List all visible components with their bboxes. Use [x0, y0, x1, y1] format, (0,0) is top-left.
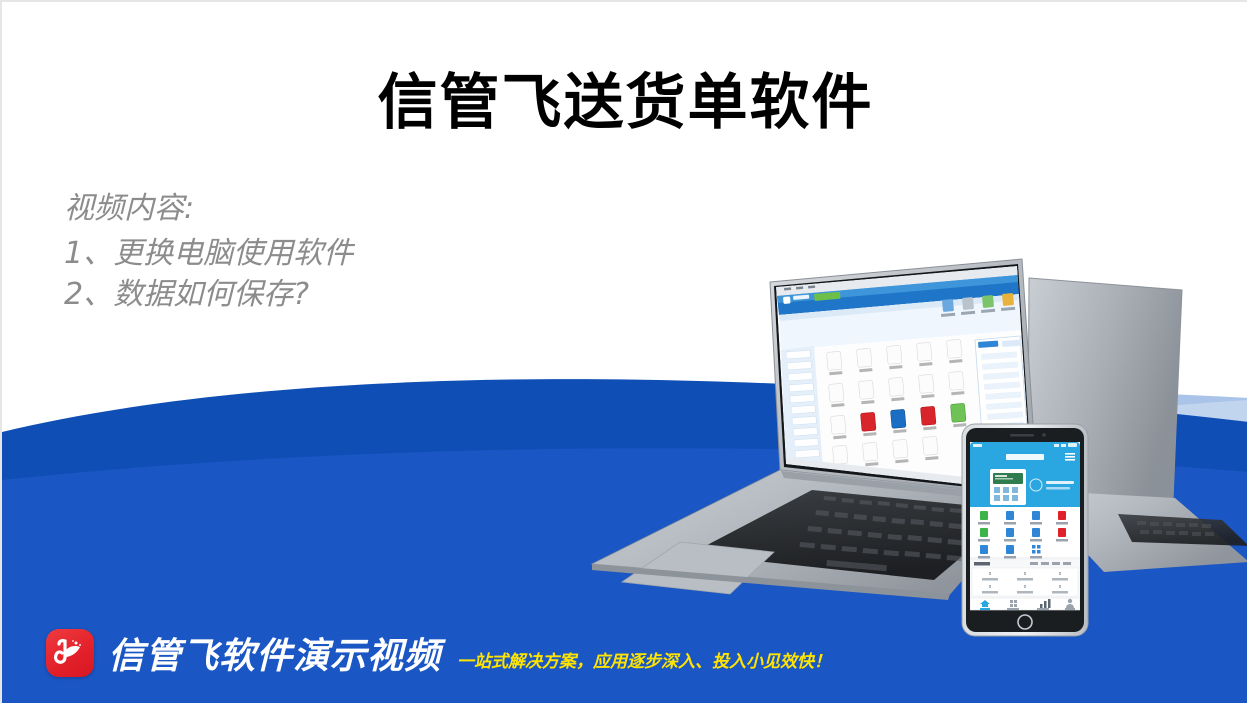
- video-content-list: 视频内容: 1、更换电脑使用软件 2、数据如何保存?: [64, 188, 534, 315]
- brand-name: 信管飞软件演示视频: [108, 627, 441, 679]
- xinguanfei-bird-logo-icon: [54, 638, 86, 668]
- hamburger-menu-icon: [1065, 453, 1075, 461]
- page-title: 信管飞送货单软件: [2, 54, 1247, 141]
- list-item: 2、数据如何保存?: [64, 274, 534, 315]
- content-heading: 视频内容:: [64, 188, 534, 229]
- devices-illustration: 0 0 0 0 0 0: [562, 242, 1247, 642]
- brand-logo-icon: [46, 629, 94, 677]
- app-logo-icon: [783, 296, 791, 304]
- phone-earpiece: [1010, 434, 1034, 437]
- laptop-back-keyboard: [1118, 514, 1247, 546]
- phone-stats-title: [974, 562, 990, 566]
- presentation-slide: 信管飞送货单软件 视频内容: 1、更换电脑使用软件 2、数据如何保存?: [0, 0, 1247, 703]
- brand-bar: 信管飞软件演示视频 一站式解决方案，应用逐步深入、投入小见效快！: [2, 603, 1247, 703]
- brand-tagline: 一站式解决方案，应用逐步深入、投入小见效快！: [457, 647, 831, 672]
- devices-svg: 0 0 0 0 0 0: [562, 242, 1247, 642]
- phone-camera-icon: [1042, 433, 1046, 437]
- phone-screen-app: 0 0 0 0 0 0: [970, 442, 1080, 610]
- list-item: 1、更换电脑使用软件: [64, 233, 534, 274]
- phone-app-title: [1006, 454, 1044, 460]
